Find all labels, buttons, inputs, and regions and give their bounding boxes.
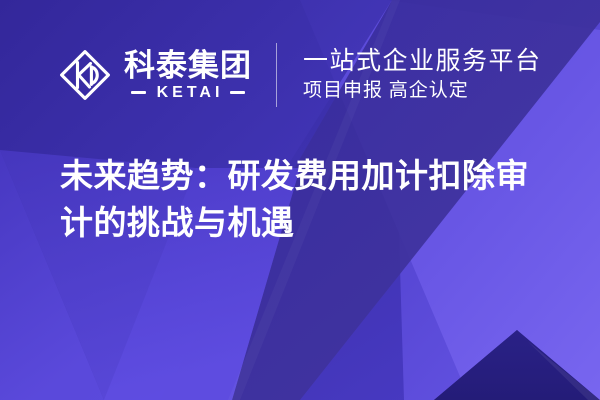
promotional-banner: 科泰集团 KETAI 一站式企业服务平台 项目申报 高企认定 未来趋势：研发费用… (0, 0, 600, 400)
headline-title: 未来趋势：研发费用加计扣除审计的挑战与机遇 (60, 152, 560, 246)
logo-company-name-cn: 科泰集团 (124, 49, 252, 83)
logo-latin-row: KETAI (131, 84, 246, 102)
dash-rule-icon-left (131, 91, 146, 94)
vertical-divider-icon (276, 43, 277, 107)
tagline-secondary: 项目申报 高企认定 (303, 78, 542, 104)
logo-wordmark: 科泰集团 KETAI (124, 49, 252, 102)
tagline-primary: 一站式企业服务平台 (303, 46, 542, 76)
bottom-right-dark-triangle (434, 330, 600, 400)
triangle-highlight-edge (518, 332, 600, 400)
brand-lockup: 科泰集团 KETAI (58, 38, 252, 112)
tagline-group: 一站式企业服务平台 项目申报 高企认定 (303, 46, 542, 104)
logo-company-name-latin: KETAI (153, 84, 224, 102)
bottom-right-dark-triangle-inner (434, 330, 580, 400)
banner-header: 科泰集团 KETAI 一站式企业服务平台 项目申报 高企认定 (58, 38, 542, 112)
dash-rule-icon-right (230, 91, 245, 94)
ketai-kt-diamond-icon (58, 48, 112, 102)
